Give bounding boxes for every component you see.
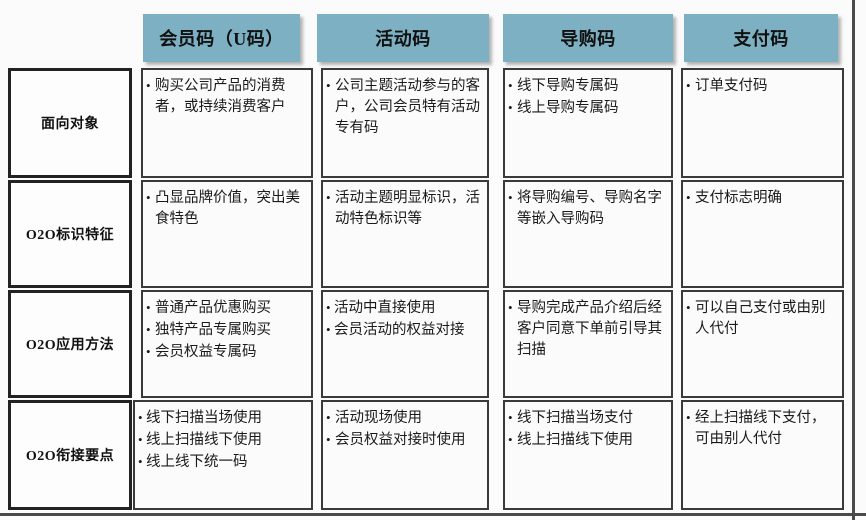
slide-bottom-border xyxy=(0,513,866,516)
cell-target-audience-payment-code[interactable]: 订单支付码 xyxy=(681,68,844,178)
cell-target-audience-member-code[interactable]: 购买公司产品的消费者，或持续消费客户 xyxy=(141,68,313,178)
bullet-item: 活动现场使用 xyxy=(326,408,483,429)
column-header-row: 会员码（U码） 活动码 导购码 支付码 xyxy=(0,14,866,62)
bullet-item: 线上扫描线下使用 xyxy=(138,430,307,451)
bullet-item: 经上扫描线下支付，可由别人代付 xyxy=(686,408,838,450)
bullet-item: 会员权益对接时使用 xyxy=(326,430,483,451)
bullet-list: 线下导购专属码 线上导购专属码 xyxy=(508,76,667,119)
cell-application-methods-guide-code[interactable]: 导购完成产品介绍后经客户同意下单前引导其扫描 xyxy=(503,290,673,398)
cell-identity-features-campaign-code[interactable]: 活动主题明显标识，活动特色标识等 xyxy=(321,180,489,288)
bullet-item: 普通产品优惠购买 xyxy=(146,298,307,319)
bullet-item: 线上扫描线下使用 xyxy=(508,430,667,451)
bullet-list: 购买公司产品的消费者，或持续消费客户 xyxy=(146,76,307,118)
cell-application-methods-campaign-code[interactable]: 活动中直接使用 会员活动的权益对接 xyxy=(321,290,489,398)
bullet-list: 活动中直接使用 会员活动的权益对接 xyxy=(326,298,483,341)
column-header-member-code[interactable]: 会员码（U码） xyxy=(143,14,300,62)
row-label-o2o-linkage-points[interactable]: O2O衔接要点 xyxy=(8,400,132,510)
bullet-item: 可以自己支付或由别人代付 xyxy=(686,298,838,340)
bullet-item: 将导购编号、导购名字等嵌入导购码 xyxy=(508,188,667,230)
comparison-table-slide: 会员码（U码） 活动码 导购码 支付码 面向对象 购买公司产品的消费者，或持续消… xyxy=(0,0,866,520)
bullet-item: 线下扫描当场使用 xyxy=(138,408,307,429)
cell-application-methods-payment-code[interactable]: 可以自己支付或由别人代付 xyxy=(681,290,844,398)
bullet-item: 会员活动的权益对接 xyxy=(326,320,483,341)
row-label-text: 面向对象 xyxy=(41,113,99,133)
cell-linkage-points-guide-code[interactable]: 线下扫描当场支付 线上扫描线下使用 xyxy=(503,400,673,510)
bullet-item: 活动主题明显标识，活动特色标识等 xyxy=(326,188,483,230)
bullet-item: 活动中直接使用 xyxy=(326,298,483,319)
bullet-list: 凸显品牌价值，突出美食特色 xyxy=(146,188,307,230)
column-header-label: 导购码 xyxy=(560,25,616,51)
bullet-list: 线下扫描当场使用 线上扫描线下使用 线上线下统一码 xyxy=(138,408,307,473)
cell-identity-features-guide-code[interactable]: 将导购编号、导购名字等嵌入导购码 xyxy=(503,180,673,288)
row-label-o2o-application-methods[interactable]: O2O应用方法 xyxy=(8,290,132,398)
bullet-item: 线下扫描当场支付 xyxy=(508,408,667,429)
bullet-item: 会员权益专属码 xyxy=(146,342,307,363)
bullet-list: 活动现场使用 会员权益对接时使用 xyxy=(326,408,483,451)
cell-identity-features-payment-code[interactable]: 支付标志明确 xyxy=(681,180,844,288)
cell-linkage-points-payment-code[interactable]: 经上扫描线下支付，可由别人代付 xyxy=(681,400,844,510)
bullet-item: 独特产品专属购买 xyxy=(146,320,307,341)
bullet-list: 经上扫描线下支付，可由别人代付 xyxy=(686,408,838,450)
bullet-list: 线下扫描当场支付 线上扫描线下使用 xyxy=(508,408,667,451)
bullet-item: 线上线下统一码 xyxy=(138,452,307,473)
cell-target-audience-campaign-code[interactable]: 公司主题活动参与的客户，公司会员特有活动专有码 xyxy=(321,68,489,178)
cell-application-methods-member-code[interactable]: 普通产品优惠购买 独特产品专属购买 会员权益专属码 xyxy=(141,290,313,398)
column-header-guide-code[interactable]: 导购码 xyxy=(503,14,673,62)
cell-linkage-points-campaign-code[interactable]: 活动现场使用 会员权益对接时使用 xyxy=(321,400,489,510)
cell-linkage-points-member-code[interactable]: 线下扫描当场使用 线上扫描线下使用 线上线下统一码 xyxy=(133,400,313,510)
bullet-item: 订单支付码 xyxy=(686,76,838,97)
column-header-label: 活动码 xyxy=(375,25,431,51)
row-label-o2o-identity-features[interactable]: O2O标识特征 xyxy=(8,180,132,288)
row-label-text: O2O衔接要点 xyxy=(26,445,114,465)
row-label-text: O2O应用方法 xyxy=(26,334,114,354)
column-header-label: 支付码 xyxy=(733,25,789,51)
bullet-item: 公司主题活动参与的客户，公司会员特有活动专有码 xyxy=(326,76,483,139)
bullet-list: 可以自己支付或由别人代付 xyxy=(686,298,838,340)
bullet-item: 线下导购专属码 xyxy=(508,76,667,97)
cell-target-audience-guide-code[interactable]: 线下导购专属码 线上导购专属码 xyxy=(503,68,673,178)
bullet-list: 公司主题活动参与的客户，公司会员特有活动专有码 xyxy=(326,76,483,139)
bullet-list: 普通产品优惠购买 独特产品专属购买 会员权益专属码 xyxy=(146,298,307,363)
slide-right-border xyxy=(852,0,855,520)
bullet-list: 支付标志明确 xyxy=(686,188,838,209)
bullet-item: 购买公司产品的消费者，或持续消费客户 xyxy=(146,76,307,118)
bullet-list: 导购完成产品介绍后经客户同意下单前引导其扫描 xyxy=(508,298,667,361)
bullet-list: 活动主题明显标识，活动特色标识等 xyxy=(326,188,483,230)
bullet-list: 订单支付码 xyxy=(686,76,838,97)
row-label-target-audience[interactable]: 面向对象 xyxy=(8,68,132,178)
bullet-item: 线上导购专属码 xyxy=(508,98,667,119)
column-header-label: 会员码（U码） xyxy=(159,25,284,51)
bullet-list: 将导购编号、导购名字等嵌入导购码 xyxy=(508,188,667,230)
column-header-payment-code[interactable]: 支付码 xyxy=(684,14,838,62)
cell-identity-features-member-code[interactable]: 凸显品牌价值，突出美食特色 xyxy=(141,180,313,288)
bullet-item: 凸显品牌价值，突出美食特色 xyxy=(146,188,307,230)
row-label-text: O2O标识特征 xyxy=(26,224,114,244)
column-header-campaign-code[interactable]: 活动码 xyxy=(317,14,489,62)
bullet-item: 支付标志明确 xyxy=(686,188,838,209)
bullet-item: 导购完成产品介绍后经客户同意下单前引导其扫描 xyxy=(508,298,667,361)
